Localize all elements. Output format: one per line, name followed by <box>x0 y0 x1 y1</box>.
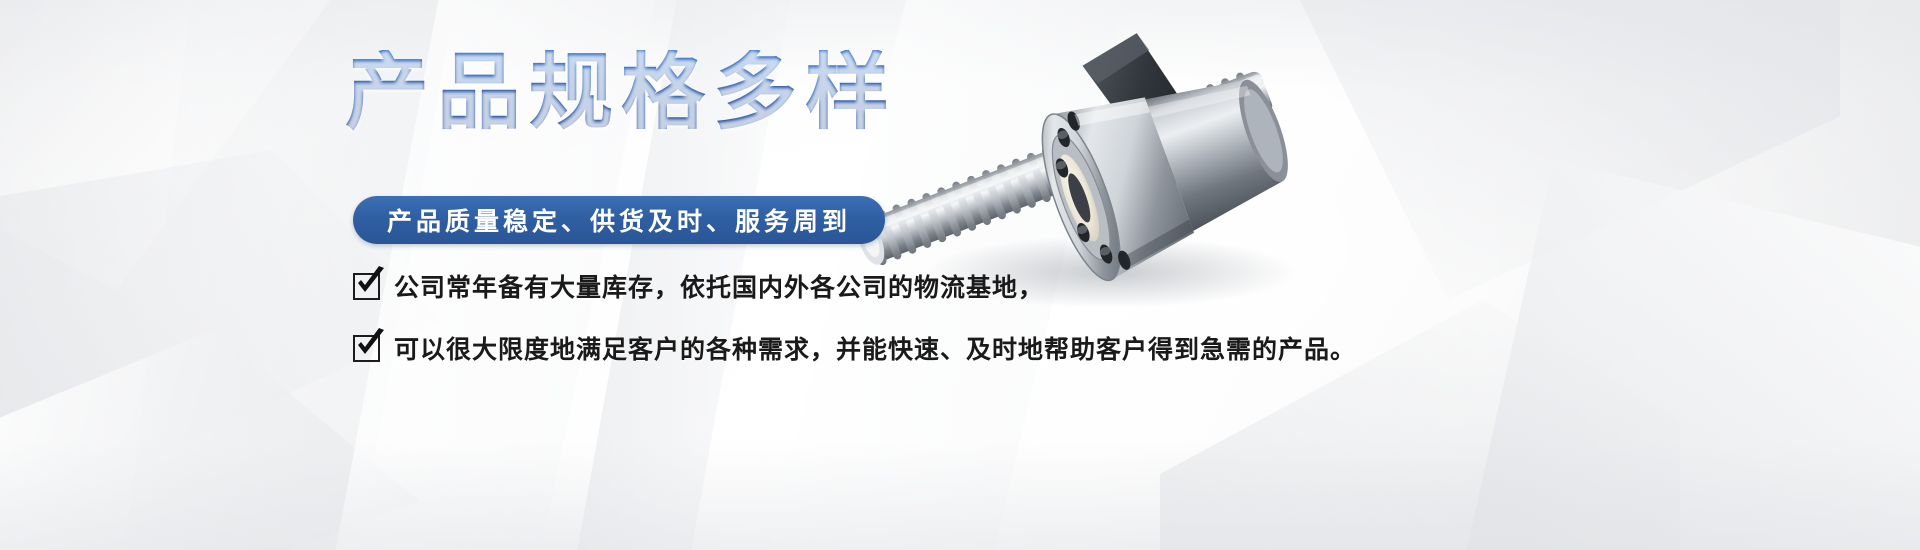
status-badge: 产品质量稳定、供货及时、服务周到 <box>353 196 885 244</box>
checkmark-icon <box>353 335 380 362</box>
checkmark-icon <box>353 273 380 300</box>
page-title: 产品规格多样 <box>345 50 897 134</box>
list-item: 可以很大限度地满足客户的各种需求，并能快速、及时地帮助客户得到急需的产品。 <box>353 330 1353 366</box>
list-item-label: 可以很大限度地满足客户的各种需求，并能快速、及时地帮助客户得到急需的产品。 <box>394 330 1356 366</box>
feature-list: 公司常年备有大量库存，依托国内外各公司的物流基地， 可以很大限度地满足客户的各种… <box>353 268 1353 392</box>
promo-banner: 产品规格多样 产品规格多样 产品质量稳定、供货及时、服务周到 公司常年备有大量库… <box>0 0 1920 550</box>
list-item: 公司常年备有大量库存，依托国内外各公司的物流基地， <box>353 268 1353 304</box>
list-item-label: 公司常年备有大量库存，依托国内外各公司的物流基地， <box>394 268 1044 304</box>
banner-content: 产品规格多样 产品规格多样 产品质量稳定、供货及时、服务周到 公司常年备有大量库… <box>345 0 1525 550</box>
